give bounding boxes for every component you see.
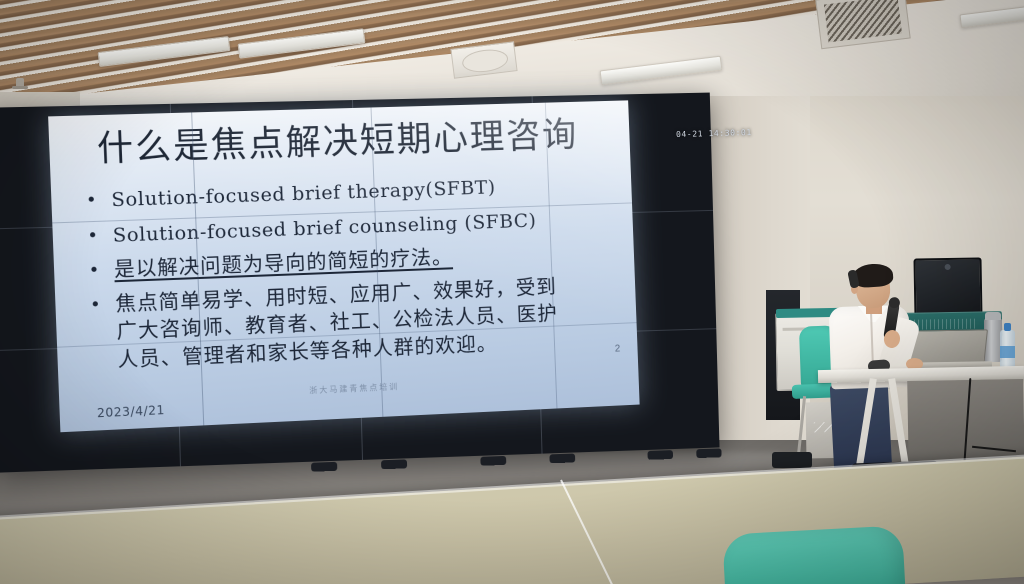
water-bottle [1000,330,1015,370]
slide-title: 什么是焦点解决短期心理咨询 [96,116,618,168]
floor-equipment [772,452,812,468]
sprinkler-icon [16,78,24,88]
foreground-chair[interactable] [722,525,905,584]
list-item-paragraph: 焦点简单易学、用时短、应用广、效果好，受到 广大咨询师、教育者、社工、公检法人员… [69,270,628,376]
slide-number: 2 [615,343,621,354]
bullet-dot-icon [91,267,96,272]
bullet-text: Solution-focused brief therapy(SFBT) [111,176,496,211]
bullet-dot-icon [93,301,98,306]
lecture-hall-photo: 什么是焦点解决短期心理咨询 Solution-focused brief the… [0,0,1024,584]
slide-bullet-list: Solution-focused brief therapy(SFBT) Sol… [65,169,628,382]
presentation-slide: 什么是焦点解决短期心理咨询 Solution-focused brief the… [48,100,640,432]
bullet-dot-icon [90,232,95,237]
desktop-monitor[interactable] [913,257,982,318]
bullet-dot-icon [89,197,94,202]
led-video-wall[interactable]: 什么是焦点解决短期心理咨询 Solution-focused brief the… [0,93,720,473]
bullet-text: 是以解决问题为导向的简短的疗法。 [114,244,453,281]
bullet-text: Solution-focused brief counseling (SFBC) [112,209,536,246]
